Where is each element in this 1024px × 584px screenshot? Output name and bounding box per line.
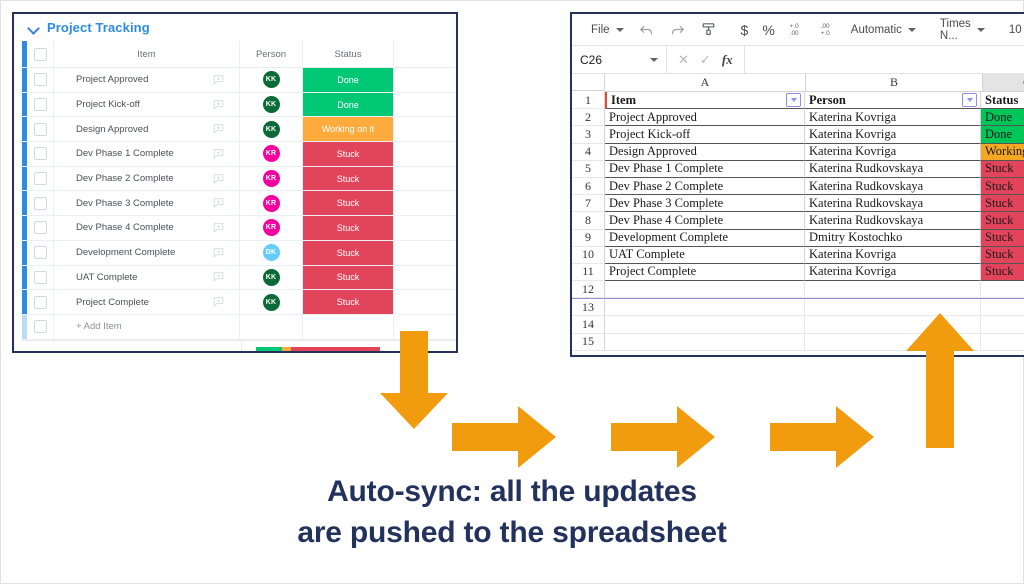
cell-person[interactable]: Katerina Rudkovskaya [805, 212, 981, 229]
row-header[interactable]: 15 [572, 334, 605, 351]
column-header-c[interactable]: C [983, 74, 1024, 92]
svg-text:+.0: +.0 [789, 23, 798, 30]
avatar: KR [263, 195, 280, 212]
table-row[interactable]: Dev Phase 2 CompleteKRStuck [22, 167, 456, 192]
board-title: Project Tracking [47, 20, 150, 35]
summary-segment [282, 347, 291, 353]
cell-empty[interactable] [981, 316, 1024, 333]
cell-status[interactable]: Stuck [303, 241, 394, 265]
cell-person[interactable]: KK [240, 290, 303, 314]
status-badge: Stuck [303, 142, 393, 166]
currency-format-button[interactable]: $ [734, 14, 756, 45]
cell-tail [394, 266, 456, 290]
increase-decimal-icon: .00 +.0 [820, 21, 837, 38]
cell-item[interactable]: Development Complete [605, 230, 805, 247]
row-checkbox[interactable] [27, 167, 54, 191]
row-header[interactable]: 5 [572, 161, 605, 178]
chevron-down-icon [908, 28, 916, 32]
row-header[interactable]: 8 [572, 212, 605, 229]
cell-person[interactable]: KK [240, 93, 303, 117]
cancel-icon[interactable]: ✕ [678, 52, 689, 68]
arrow-down [378, 331, 450, 431]
avatar: KK [263, 71, 280, 88]
row-header[interactable]: 10 [572, 247, 605, 264]
svg-text:.00: .00 [820, 23, 829, 30]
cell-status[interactable]: Done [981, 109, 1024, 126]
table-row: 2Project ApprovedKaterina KovrigaDone202… [572, 109, 1024, 126]
row-header[interactable]: 4 [572, 144, 605, 161]
column-header-a[interactable]: A [605, 74, 806, 92]
column-header-status[interactable]: Status [303, 41, 394, 67]
cell-item[interactable]: Dev Phase 1 Complete [54, 142, 240, 166]
page-canvas: Project Tracking Item Person Status Proj… [0, 0, 1024, 584]
add-comment-icon[interactable] [212, 172, 225, 185]
status-badge: Stuck [303, 241, 393, 265]
increase-decimal-button[interactable]: .00 +.0 [813, 14, 844, 45]
cell-person[interactable]: Katerina Rudkovskaya [805, 178, 981, 195]
row-checkbox[interactable] [27, 142, 54, 166]
row-header[interactable]: 9 [572, 230, 605, 247]
table-row[interactable]: Project CompleteKKStuck [22, 290, 456, 315]
cell-c1[interactable]: Status [981, 92, 1024, 109]
decrease-decimal-button[interactable]: +.0 .00 [782, 14, 813, 45]
row-header[interactable]: 7 [572, 195, 605, 212]
add-comment-icon[interactable] [212, 296, 225, 309]
avatar: DK [263, 244, 280, 261]
cell-empty[interactable] [805, 281, 981, 298]
add-comment-icon[interactable] [212, 147, 225, 160]
status-badge: Stuck [303, 191, 393, 215]
cell-person[interactable]: KR [240, 167, 303, 191]
cell-empty[interactable] [605, 299, 805, 316]
avatar: KR [263, 145, 280, 162]
cell-empty[interactable] [605, 316, 805, 333]
arrow-right-2 [611, 406, 717, 468]
row-checkbox[interactable] [27, 216, 54, 240]
cell-status[interactable]: Stuck [981, 247, 1024, 264]
board-grid: Item Person Status Project ApprovedKKDon… [22, 41, 456, 340]
cell-tail [394, 241, 456, 265]
undo-button[interactable] [631, 14, 662, 45]
status-badge: Stuck [303, 167, 393, 191]
add-comment-icon[interactable] [212, 73, 225, 86]
avatar: KR [263, 170, 280, 187]
table-row[interactable]: Design ApprovedKKWorking on it [22, 117, 456, 142]
row-checkbox[interactable] [27, 315, 54, 339]
cell-person[interactable]: KR [240, 216, 303, 240]
cell-status[interactable]: Stuck [303, 142, 394, 166]
paint-format-icon [700, 21, 717, 38]
row-header[interactable]: 13 [572, 299, 605, 316]
cell-person[interactable]: KK [240, 117, 303, 141]
column-header-b[interactable]: B [806, 74, 983, 92]
cell-status[interactable]: Stuck [981, 161, 1024, 178]
cell-item[interactable]: Project Kick-off [605, 126, 805, 143]
table-row: 8Dev Phase 4 CompleteKaterina Rudkovskay… [572, 212, 1024, 229]
add-item-label-cell[interactable]: + Add Item [54, 315, 240, 339]
cell-person[interactable]: Dmitry Kostochko [805, 230, 981, 247]
cell-item[interactable]: Dev Phase 4 Complete [605, 212, 805, 229]
cell-person[interactable]: KR [240, 142, 303, 166]
row-checkbox[interactable] [27, 241, 54, 265]
cell-b1[interactable]: Person [805, 92, 981, 109]
cell-empty[interactable] [981, 281, 1024, 298]
row-checkbox[interactable] [27, 290, 54, 314]
table-row[interactable]: Dev Phase 3 CompleteKRStuck [22, 191, 456, 216]
summary-segments [256, 347, 380, 353]
caption-line-2: are pushed to the spreadsheet [1, 512, 1023, 553]
select-all-checkbox[interactable] [27, 41, 54, 67]
cell-status[interactable]: Stuck [303, 191, 394, 215]
table-row: 10UAT CompleteKaterina KovrigaStuck2023- [572, 247, 1024, 264]
cell-item[interactable]: UAT Complete [54, 266, 240, 290]
svg-text:.00: .00 [789, 30, 798, 37]
table-row: 12 [572, 281, 1024, 298]
cell-tail [394, 93, 456, 117]
avatar: KK [263, 96, 280, 113]
project-board: Project Tracking Item Person Status Proj… [12, 12, 458, 353]
table-row: 7Dev Phase 3 CompleteKaterina Rudkovskay… [572, 195, 1024, 212]
undo-icon [638, 21, 655, 38]
cell-status[interactable]: Stuck [981, 264, 1024, 281]
cell-item[interactable]: Project Approved [54, 68, 240, 92]
cell-status[interactable]: Stuck [303, 216, 394, 240]
cell-item[interactable]: Dev Phase 3 Complete [54, 191, 240, 215]
avatar: KK [263, 121, 280, 138]
cell-person[interactable]: Katerina Kovriga [805, 264, 981, 281]
add-comment-icon[interactable] [212, 221, 225, 234]
add-comment-icon[interactable] [212, 98, 225, 111]
board-header-row: Item Person Status [22, 41, 456, 68]
status-badge: Working on it [303, 117, 393, 141]
number-format-dropdown[interactable]: Automatic [844, 14, 923, 45]
cell-empty[interactable] [981, 299, 1024, 316]
font-family-dropdown[interactable]: Times N... [933, 14, 992, 45]
row-header[interactable]: 11 [572, 264, 605, 281]
chevron-down-icon [977, 28, 985, 32]
cell-tail [394, 68, 456, 92]
summary-cell [241, 341, 394, 353]
row-checkbox[interactable] [27, 68, 54, 92]
table-row: 1ItemPersonStatusDate [572, 92, 1024, 109]
table-row: 9Development CompleteDmitry KostochkoStu… [572, 230, 1024, 247]
cell-item[interactable]: Project Complete [605, 264, 805, 281]
cell-status[interactable]: Stuck [303, 290, 394, 314]
cell-status[interactable]: Done [981, 126, 1024, 143]
cell-item[interactable]: Dev Phase 3 Complete [605, 195, 805, 212]
cell-person[interactable]: KR [240, 191, 303, 215]
board-rows: Project ApprovedKKDoneProject Kick-offKK… [22, 68, 456, 315]
summary-segment [256, 347, 282, 353]
cell-person[interactable]: DK [240, 241, 303, 265]
row-header[interactable]: 6 [572, 178, 605, 195]
row-header[interactable]: 3 [572, 126, 605, 143]
status-badge: Done [303, 68, 393, 92]
cell-status[interactable]: Working on it [303, 117, 394, 141]
add-comment-icon[interactable] [212, 123, 225, 136]
filter-dropdown-icon[interactable] [962, 93, 977, 107]
cell-person[interactable]: Katerina Kovriga [805, 109, 981, 126]
cell-status[interactable]: Stuck [981, 195, 1024, 212]
cell-person[interactable]: Katerina Kovriga [805, 144, 981, 161]
cell-tail [394, 117, 456, 141]
caption-line-1: Auto-sync: all the updates [1, 471, 1023, 512]
cell-item[interactable]: UAT Complete [605, 247, 805, 264]
status-badge: Stuck [303, 290, 393, 314]
function-icon[interactable]: fx [722, 52, 733, 68]
avatar: KR [263, 219, 280, 236]
row-header[interactable]: 1 [572, 92, 605, 109]
decrease-decimal-icon: +.0 .00 [789, 21, 806, 38]
cell-tail [394, 142, 456, 166]
table-row[interactable]: Project ApprovedKKDone [22, 68, 456, 93]
cell-status[interactable]: Stuck [303, 167, 394, 191]
font-size-input[interactable]: 10 [1002, 14, 1024, 45]
redo-icon [669, 21, 686, 38]
redo-button[interactable] [662, 14, 693, 45]
cell-empty[interactable] [981, 334, 1024, 351]
table-row[interactable]: Project Kick-offKKDone [22, 93, 456, 118]
cell-person[interactable]: KK [240, 266, 303, 290]
chevron-down-icon [650, 58, 658, 62]
spreadsheet-toolbar: File $ % [572, 14, 1024, 46]
cell-item[interactable]: Development Complete [54, 241, 240, 265]
row-checkbox[interactable] [27, 191, 54, 215]
cell-status[interactable]: Done [303, 93, 394, 117]
cell-tail [394, 167, 456, 191]
cell-item[interactable]: Dev Phase 2 Complete [54, 167, 240, 191]
table-row[interactable]: UAT CompleteKKStuck [22, 266, 456, 291]
cell-tail [394, 216, 456, 240]
percent-format-button[interactable]: % [755, 14, 781, 45]
table-row: 3Project Kick-offKaterina KovrigaDone202… [572, 126, 1024, 143]
avatar: KK [263, 294, 280, 311]
cell-item[interactable]: Design Approved [605, 144, 805, 161]
cell-person[interactable]: Katerina Rudkovskaya [805, 161, 981, 178]
status-badge: Done [303, 93, 393, 117]
chevron-down-icon [616, 28, 624, 32]
cell-empty[interactable] [605, 281, 805, 298]
add-row-person-cell [240, 315, 303, 339]
table-row[interactable]: Dev Phase 4 CompleteKRStuck [22, 216, 456, 241]
cell-item[interactable]: Project Kick-off [54, 93, 240, 117]
cell-empty[interactable] [605, 334, 805, 351]
column-header-item[interactable]: Item [54, 41, 240, 67]
formula-bar: C26 ✕ ✓ fx [572, 46, 1024, 74]
summary-segment [291, 347, 380, 353]
cell-person[interactable]: KK [240, 68, 303, 92]
cell-tail [394, 290, 456, 314]
row-header[interactable]: 2 [572, 109, 605, 126]
name-box[interactable]: C26 [572, 46, 667, 73]
file-menu[interactable]: File [584, 14, 631, 45]
confirm-icon[interactable]: ✓ [700, 52, 711, 68]
spreadsheet-body: 1ItemPersonStatusDate2Project ApprovedKa… [572, 92, 1024, 351]
table-row[interactable]: Dev Phase 1 CompleteKRStuck [22, 142, 456, 167]
table-row: 5Dev Phase 1 CompleteKaterina Rudkovskay… [572, 161, 1024, 178]
cell-tail [394, 191, 456, 215]
chevron-down-icon[interactable] [28, 22, 40, 34]
filter-dropdown-icon[interactable] [786, 93, 801, 107]
cell-status[interactable]: Done [303, 68, 394, 92]
status-badge: Stuck [303, 216, 393, 240]
cell-item[interactable]: Design Approved [54, 117, 240, 141]
table-row: 6Dev Phase 2 CompleteKaterina Rudkovskay… [572, 178, 1024, 195]
cell-person[interactable]: Katerina Rudkovskaya [805, 195, 981, 212]
cell-person[interactable]: Katerina Kovriga [805, 126, 981, 143]
row-header[interactable]: 12 [572, 281, 605, 298]
add-comment-icon[interactable] [212, 197, 225, 210]
cell-person[interactable]: Katerina Kovriga [805, 247, 981, 264]
corner-cell[interactable] [572, 74, 605, 91]
column-header-row: A B C [572, 74, 1024, 92]
spreadsheet: File $ % [570, 12, 1024, 357]
column-header-person[interactable]: Person [240, 41, 303, 67]
cell-status[interactable]: Stuck [981, 178, 1024, 195]
arrow-right-3 [770, 406, 876, 468]
cell-item[interactable]: Dev Phase 4 Complete [54, 216, 240, 240]
avatar: KK [263, 269, 280, 286]
column-header-tail [394, 41, 456, 67]
row-checkbox[interactable] [27, 266, 54, 290]
add-comment-icon[interactable] [212, 271, 225, 284]
add-comment-icon[interactable] [212, 246, 225, 259]
cell-status[interactable]: Stuck [981, 230, 1024, 247]
cell-item[interactable]: Project Approved [605, 109, 805, 126]
row-checkbox[interactable] [27, 117, 54, 141]
table-row: 11Project CompleteKaterina KovrigaStuck2… [572, 264, 1024, 281]
arrow-up [904, 313, 976, 450]
svg-text:+.0: +.0 [820, 30, 829, 37]
cell-item[interactable]: Project Complete [54, 290, 240, 314]
board-header: Project Tracking [14, 14, 456, 41]
formula-controls: ✕ ✓ fx [667, 46, 745, 73]
cell-status[interactable]: Stuck [981, 212, 1024, 229]
table-row[interactable]: Development CompleteDKStuck [22, 241, 456, 266]
paint-format-button[interactable] [693, 14, 724, 45]
row-checkbox[interactable] [27, 93, 54, 117]
caption: Auto-sync: all the updates are pushed to… [1, 471, 1023, 554]
cell-item[interactable]: Dev Phase 2 Complete [605, 178, 805, 195]
cell-status[interactable]: Stuck [303, 266, 394, 290]
table-row: 4Design ApprovedKaterina KovrigaWorking … [572, 144, 1024, 161]
arrow-right-1 [452, 406, 558, 468]
status-badge: Stuck [303, 266, 393, 290]
cell-status[interactable]: Working on it [981, 144, 1024, 161]
cell-a1[interactable]: Item [605, 92, 805, 109]
cell-item[interactable]: Dev Phase 1 Complete [605, 161, 805, 178]
row-header[interactable]: 14 [572, 316, 605, 333]
